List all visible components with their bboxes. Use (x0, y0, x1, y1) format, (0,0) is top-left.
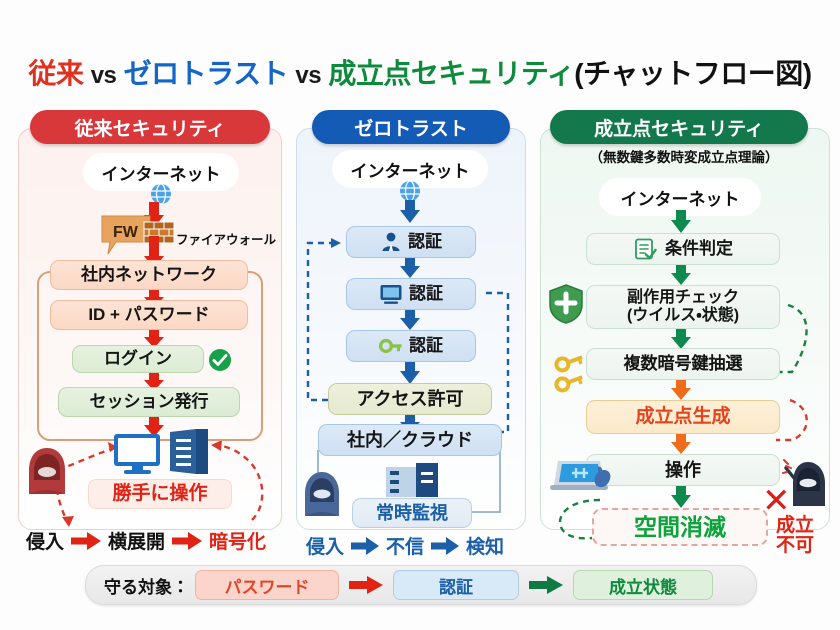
svg-text:FW: FW (113, 224, 139, 241)
summary-label: 守る対象： (104, 573, 189, 598)
node-zt-access-granted[interactable]: アクセス許可 (328, 383, 492, 415)
monitor-icon (112, 432, 164, 476)
server-rack-icon (384, 461, 440, 503)
header-seiritsuten: 成立点セキュリティ (550, 110, 808, 144)
page-title: 従来 vs ゼロトラスト vs 成立点セキュリティ(チャットフロー図) (0, 52, 840, 92)
node-zt-auth-device[interactable]: 認証 (346, 278, 476, 310)
node-st-space-disappearance[interactable]: 空間消滅 (592, 508, 768, 546)
node-legacy-session[interactable]: セッション発行 (58, 387, 240, 417)
chain-legacy-step-1: 侵入 (26, 527, 64, 554)
label-not-established-line1: 成立 (776, 516, 814, 536)
node-legacy-id-password[interactable]: ID + パスワード (50, 300, 248, 330)
cloud-label: インターネット (621, 185, 740, 210)
node-label: 認証 (409, 284, 443, 304)
chain-zt-step-2: 不信 (386, 532, 424, 559)
chain-arrow-icon (170, 532, 204, 550)
check-circle-icon (208, 348, 232, 372)
shield-plus-icon (548, 283, 584, 325)
node-zt-continuous-monitoring[interactable]: 常時監視 (352, 498, 472, 528)
node-zt-onprem-cloud[interactable]: 社内／クラウド (318, 424, 502, 456)
node-st-side-effect-check[interactable]: 副作用チェック (ウイルス・状態) (586, 285, 780, 329)
chain-legacy: 侵入 横展開 暗号化 (26, 527, 266, 554)
title-vs-2: vs (295, 62, 321, 89)
node-label-line1: 副作用チェック (627, 289, 739, 307)
node-label: 条件判定 (665, 239, 733, 259)
chain-zt-step-3: 検知 (466, 532, 504, 559)
label-not-established: 成立 不可 (776, 516, 814, 556)
cross-mark-icon: ✕ (762, 484, 791, 518)
device-icon (379, 283, 403, 305)
chain-arrow-icon (429, 537, 461, 555)
hacker-red-icon (24, 446, 70, 498)
server-icon (166, 428, 212, 476)
summary-bar: 守る対象： パスワード 認証 成立状態 (85, 565, 757, 605)
node-st-establishment-point-generation[interactable]: 成立点生成 (586, 400, 780, 434)
header-legacy: 従来セキュリティ (30, 110, 270, 144)
arrow-st-1 (670, 210, 692, 234)
summary-chip-password[interactable]: パスワード (195, 570, 339, 600)
arrow-st-2 (670, 265, 692, 285)
node-label: 認証 (409, 336, 443, 356)
chain-legacy-step-2: 横展開 (108, 527, 165, 554)
label-not-established-line2: 不可 (776, 536, 814, 556)
node-zt-auth-key[interactable]: 認証 (346, 330, 476, 362)
node-legacy-internal-network[interactable]: 社内ネットワーク (50, 260, 248, 290)
key-icon (379, 335, 403, 357)
title-suffix: (チャットフロー図) (574, 58, 811, 89)
summary-arrow-icon (527, 575, 565, 595)
title-vs-1: vs (91, 62, 117, 89)
node-legacy-login[interactable]: ログイン (72, 345, 204, 373)
node-st-condition-check[interactable]: 条件判定 (586, 233, 780, 265)
title-part-zerotrust: ゼロトラスト (124, 58, 288, 89)
cloud-internet-seiritsuten: インターネット (604, 183, 756, 211)
summary-arrow-icon (347, 575, 385, 595)
arrow-st-6 (670, 486, 692, 508)
laptop-hand-icon (548, 455, 618, 499)
arrow-st-3 (670, 329, 692, 349)
chain-legacy-step-3: 暗号化 (209, 527, 266, 554)
node-zt-auth-user[interactable]: 認証 (346, 226, 476, 258)
diagram-canvas: 従来 vs ゼロトラスト vs 成立点セキュリティ(チャットフロー図) 従来セキ… (0, 0, 840, 630)
firewall-brick-icon: FW (100, 212, 182, 260)
arrow-zt-4 (399, 362, 421, 384)
arrow-zt-3 (399, 310, 421, 330)
keys-icon (550, 350, 588, 396)
header-zerotrust: ゼロトラスト (312, 110, 510, 144)
chain-arrow-icon (69, 532, 103, 550)
title-part-seiritsuten: 成立点セキュリティ (328, 58, 574, 89)
arrow-zt-1 (399, 200, 421, 224)
chain-zt-step-1: 侵入 (306, 532, 344, 559)
user-icon (380, 231, 402, 253)
chain-zerotrust: 侵入 不信 検知 (306, 532, 504, 559)
label-unauthorized-operation: 勝手に操作 (88, 479, 232, 509)
chain-arrow-icon (349, 537, 381, 555)
node-st-key-lottery[interactable]: 複数暗号鍵抽選 (586, 348, 780, 380)
title-part-legacy: 従来 (28, 58, 83, 89)
hacker-blue-icon (300, 470, 344, 520)
summary-chip-auth[interactable]: 認証 (393, 570, 519, 600)
clipboard-check-icon (633, 237, 657, 261)
node-label-line2: (ウイルス・状態) (627, 307, 739, 325)
summary-chip-established-state[interactable]: 成立状態 (573, 570, 713, 600)
arrow-st-4 (670, 380, 692, 400)
firewall-label: ファイアウォール (176, 229, 276, 248)
arrow-st-5 (670, 434, 692, 454)
node-label: 認証 (408, 232, 442, 252)
arrow-zt-2 (399, 258, 421, 278)
subtitle-seiritsuten: （無数鍵多数時変成立点理論） (540, 146, 828, 166)
